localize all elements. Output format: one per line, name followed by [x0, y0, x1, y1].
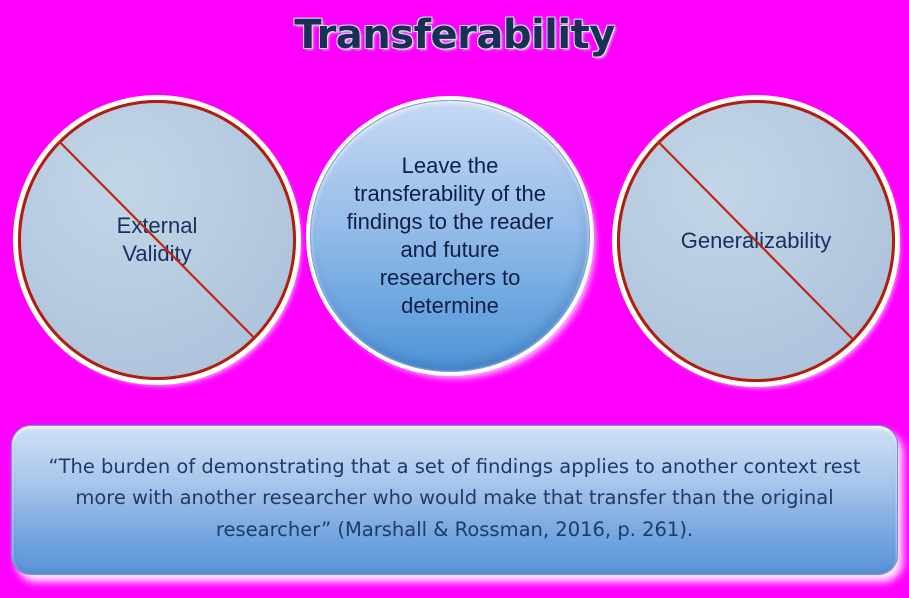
slide-canvas: Transferability ExternalValidity Leave t… [0, 0, 909, 598]
quote-panel[interactable]: “The burden of demonstrating that a set … [11, 425, 898, 575]
circle-label-transferability-statement: Leave the transferability of the finding… [343, 152, 558, 321]
circle-label-generalizability: Generalizability [681, 227, 831, 255]
circle-label-external-validity: ExternalValidity [117, 212, 198, 268]
circle-generalizability[interactable]: Generalizability [617, 100, 895, 382]
circle-external-validity[interactable]: ExternalValidity [18, 100, 296, 380]
quote-text: “The burden of demonstrating that a set … [34, 451, 875, 546]
page-title: Transferability [0, 14, 909, 56]
circle-transferability-statement[interactable]: Leave the transferability of the finding… [310, 100, 590, 372]
